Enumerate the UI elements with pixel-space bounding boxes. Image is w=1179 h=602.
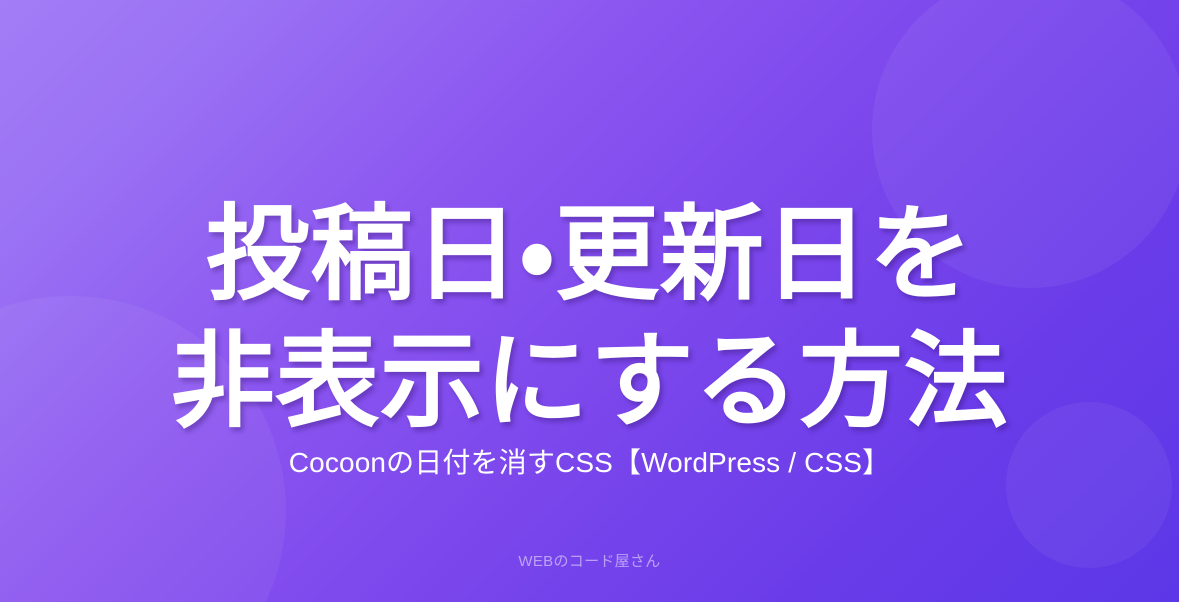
banner-credit: WEBのコード屋さん [0, 551, 1179, 572]
eyecatch-banner: 投稿日・更新日を 非表示にする方法 Cocoonの日付を消すCSS【WordPr… [0, 0, 1179, 602]
banner-subtitle: Cocoonの日付を消すCSS【WordPress / CSS】 [0, 443, 1179, 482]
banner-title-line-2: 非表示にする方法 [0, 319, 1179, 446]
banner-content: 投稿日・更新日を 非表示にする方法 Cocoonの日付を消すCSS【WordPr… [0, 0, 1179, 602]
banner-title-line-1: 投稿日・更新日を [0, 192, 1179, 319]
banner-title: 投稿日・更新日を 非表示にする方法 [0, 192, 1179, 446]
